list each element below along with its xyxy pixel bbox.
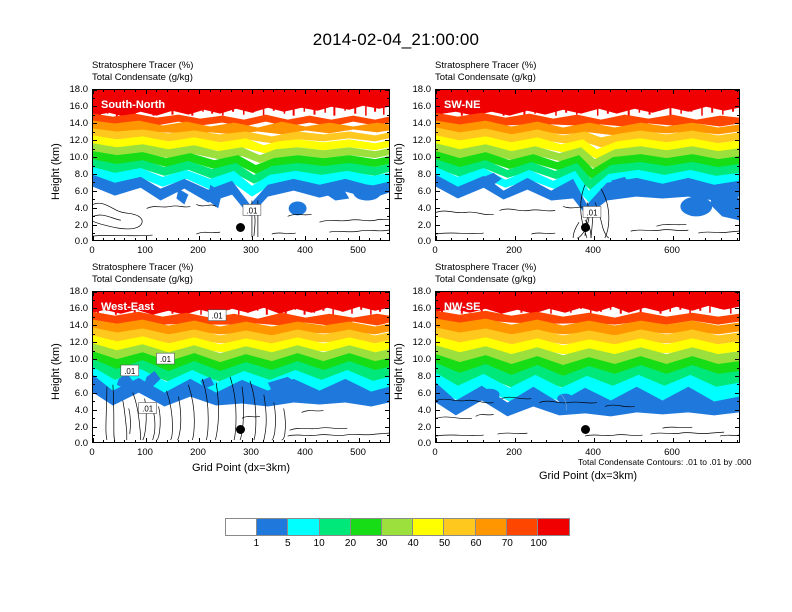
axis-minor-tick-mark — [387, 132, 389, 133]
axis-tick-mark — [93, 236, 94, 240]
axis-tick-mark — [93, 208, 97, 209]
axis-tick-mark — [436, 90, 440, 91]
axis-minor-tick-mark — [737, 233, 739, 234]
axis-minor-tick-mark — [103, 292, 104, 294]
axis-minor-tick-mark — [93, 334, 95, 335]
axis-tick-mark — [436, 308, 440, 309]
colorbar-strip[interactable] — [225, 518, 570, 536]
axis-minor-tick-mark — [387, 233, 389, 234]
axis-minor-tick-mark — [93, 384, 95, 385]
axis-minor-tick-mark — [483, 90, 484, 92]
axis-minor-tick-mark — [641, 292, 642, 294]
axis-minor-tick-mark — [387, 317, 389, 318]
axis-tick-mark — [252, 438, 253, 442]
axis-tick-mark — [385, 342, 389, 343]
location-marker-dot — [236, 425, 245, 434]
axis-minor-tick-mark — [93, 317, 95, 318]
axis-minor-tick-mark — [135, 440, 136, 442]
axis-minor-tick-mark — [436, 418, 438, 419]
ytick-14: 14.0 — [399, 320, 431, 331]
axis-minor-tick-mark — [689, 238, 690, 240]
axis-minor-tick-mark — [436, 199, 438, 200]
axis-minor-tick-mark — [103, 238, 104, 240]
axis-minor-tick-mark — [436, 384, 438, 385]
axis-tick-mark — [436, 410, 440, 411]
axis-minor-tick-mark — [387, 418, 389, 419]
axis-minor-tick-mark — [387, 98, 389, 99]
axis-minor-tick-mark — [483, 440, 484, 442]
axis-minor-tick-mark — [467, 292, 468, 294]
axis-minor-tick-mark — [327, 90, 328, 92]
ytick-6: 6.0 — [56, 186, 88, 197]
axis-minor-tick-mark — [531, 238, 532, 240]
xtick-200: 200 — [500, 447, 528, 458]
axis-tick-mark — [385, 393, 389, 394]
plot-area-sw-ne[interactable]: .01 — [435, 89, 740, 241]
axis-tick-mark — [93, 325, 97, 326]
axis-tick-mark — [735, 359, 739, 360]
axis-minor-tick-mark — [124, 292, 125, 294]
axis-tick-mark — [146, 90, 147, 94]
colorbar-tick-label: 5 — [285, 538, 291, 549]
axis-tick-mark — [436, 106, 440, 107]
axis-minor-tick-mark — [641, 238, 642, 240]
axis-minor-tick-mark — [380, 440, 381, 442]
panel-header-line1: Stratosphere Tracer (%) — [92, 60, 193, 72]
plot-area-nw-se[interactable] — [435, 291, 740, 443]
axis-tick-mark — [735, 174, 739, 175]
ytick-16: 16.0 — [399, 303, 431, 314]
colorbar-segment — [320, 519, 351, 535]
panel-header-line2: Total Condensate (g/kg) — [92, 274, 193, 286]
axis-minor-tick-mark — [737, 435, 739, 436]
axis-minor-tick-mark — [721, 238, 722, 240]
axis-tick-mark — [436, 359, 440, 360]
plot-content-west-east: .01 .01 .01 .01 — [93, 292, 389, 442]
colorbar-segment — [288, 519, 319, 535]
axis-minor-tick-mark — [337, 292, 338, 294]
axis-minor-tick-mark — [242, 292, 243, 294]
axis-minor-tick-mark — [436, 435, 438, 436]
ytick-18: 18.0 — [399, 84, 431, 95]
axis-minor-tick-mark — [436, 334, 438, 335]
page-title: 2014-02-04_21:00:00 — [0, 30, 792, 50]
axis-tick-mark — [359, 90, 360, 94]
axis-minor-tick-mark — [348, 440, 349, 442]
colorbar-tick-label: 30 — [376, 538, 387, 549]
axis-tick-mark — [735, 191, 739, 192]
axis-minor-tick-mark — [387, 435, 389, 436]
axis-tick-mark — [146, 236, 147, 240]
axis-tick-mark — [673, 236, 674, 240]
axis-minor-tick-mark — [188, 238, 189, 240]
axis-minor-tick-mark — [657, 440, 658, 442]
axis-minor-tick-mark — [210, 238, 211, 240]
axis-minor-tick-mark — [220, 90, 221, 92]
location-marker-dot — [236, 223, 245, 232]
ytick-10: 10.0 — [56, 152, 88, 163]
axis-minor-tick-mark — [578, 90, 579, 92]
axis-minor-tick-mark — [451, 292, 452, 294]
axis-minor-tick-mark — [436, 317, 438, 318]
axis-minor-tick-mark — [451, 440, 452, 442]
colorbar-segment — [226, 519, 257, 535]
axis-tick-mark — [385, 308, 389, 309]
axis-minor-tick-mark — [387, 384, 389, 385]
axis-minor-tick-mark — [562, 90, 563, 92]
axis-tick-mark — [359, 438, 360, 442]
axis-minor-tick-mark — [705, 440, 706, 442]
xtick-100: 100 — [131, 447, 159, 458]
axis-minor-tick-mark — [387, 216, 389, 217]
axis-minor-tick-mark — [380, 90, 381, 92]
axis-tick-mark — [199, 292, 200, 296]
axis-tick-mark — [93, 225, 97, 226]
axis-minor-tick-mark — [657, 292, 658, 294]
panel-header-line2: Total Condensate (g/kg) — [92, 72, 193, 84]
colorbar-tick-label: 60 — [470, 538, 481, 549]
axis-minor-tick-mark — [93, 351, 95, 352]
axis-minor-tick-mark — [178, 440, 179, 442]
axis-minor-tick-mark — [348, 90, 349, 92]
axis-tick-mark — [385, 157, 389, 158]
panel-header-line2: Total Condensate (g/kg) — [435, 274, 536, 286]
axis-tick-mark — [146, 438, 147, 442]
axis-minor-tick-mark — [531, 292, 532, 294]
axis-tick-mark — [93, 292, 94, 296]
axis-minor-tick-mark — [114, 238, 115, 240]
colorbar-segment — [476, 519, 507, 535]
axis-minor-tick-mark — [114, 292, 115, 294]
ytick-12: 12.0 — [56, 337, 88, 348]
plot-content-south-north: .01 — [93, 90, 389, 240]
axis-minor-tick-mark — [167, 440, 168, 442]
axis-tick-mark — [735, 393, 739, 394]
axis-tick-mark — [436, 292, 437, 296]
axis-minor-tick-mark — [273, 238, 274, 240]
axis-minor-tick-mark — [93, 300, 95, 301]
axis-minor-tick-mark — [737, 418, 739, 419]
xtick-200: 200 — [184, 245, 212, 256]
axis-minor-tick-mark — [231, 238, 232, 240]
axis-minor-tick-mark — [436, 300, 438, 301]
ytick-10: 10.0 — [56, 354, 88, 365]
figure-canvas: 2014-02-04_21:00:00 Stratosphere Tracer … — [0, 0, 792, 612]
axis-tick-mark — [436, 225, 440, 226]
axis-minor-tick-mark — [93, 368, 95, 369]
axis-tick-mark — [385, 106, 389, 107]
svg-text:.01: .01 — [586, 208, 598, 217]
axis-minor-tick-mark — [387, 368, 389, 369]
axis-minor-tick-mark — [657, 238, 658, 240]
axis-tick-mark — [252, 90, 253, 94]
axis-minor-tick-mark — [167, 90, 168, 92]
axis-minor-tick-mark — [337, 90, 338, 92]
axis-tick-mark — [436, 236, 437, 240]
axis-tick-mark — [735, 325, 739, 326]
ytick-14: 14.0 — [56, 320, 88, 331]
axis-minor-tick-mark — [737, 216, 739, 217]
axis-minor-tick-mark — [124, 238, 125, 240]
axis-minor-tick-mark — [737, 90, 738, 92]
axis-minor-tick-mark — [93, 149, 95, 150]
colorbar-segment — [351, 519, 382, 535]
axis-tick-mark — [594, 236, 595, 240]
ytick-2: 2.0 — [399, 422, 431, 433]
axis-tick-mark — [93, 438, 94, 442]
colorbar-tick-label: 10 — [314, 538, 325, 549]
axis-tick-mark — [385, 427, 389, 428]
axis-minor-tick-mark — [210, 292, 211, 294]
axis-minor-tick-mark — [263, 238, 264, 240]
axis-tick-mark — [385, 376, 389, 377]
ytick-8: 8.0 — [399, 169, 431, 180]
axis-tick-mark — [93, 157, 97, 158]
xtick-100: 100 — [131, 245, 159, 256]
axis-minor-tick-mark — [436, 166, 438, 167]
axis-minor-tick-mark — [737, 182, 739, 183]
axis-minor-tick-mark — [436, 401, 438, 402]
axis-minor-tick-mark — [348, 238, 349, 240]
axis-minor-tick-mark — [156, 292, 157, 294]
axis-minor-tick-mark — [178, 238, 179, 240]
axis-minor-tick-mark — [93, 216, 95, 217]
axis-tick-mark — [735, 157, 739, 158]
axis-minor-tick-mark — [337, 440, 338, 442]
axis-tick-mark — [93, 140, 97, 141]
axis-tick-mark — [436, 342, 440, 343]
axis-minor-tick-mark — [387, 199, 389, 200]
ytick-6: 6.0 — [399, 186, 431, 197]
ytick-12: 12.0 — [399, 135, 431, 146]
ytick-4: 4.0 — [56, 405, 88, 416]
axis-minor-tick-mark — [93, 166, 95, 167]
axis-minor-tick-mark — [135, 90, 136, 92]
axis-minor-tick-mark — [737, 199, 739, 200]
axis-minor-tick-mark — [210, 440, 211, 442]
axis-tick-mark — [436, 393, 440, 394]
colorbar[interactable]: 1510203040506070100 — [225, 518, 570, 558]
axis-tick-mark — [252, 236, 253, 240]
axis-tick-mark — [385, 359, 389, 360]
axis-minor-tick-mark — [220, 238, 221, 240]
axis-minor-tick-mark — [387, 300, 389, 301]
axis-minor-tick-mark — [242, 238, 243, 240]
axis-minor-tick-mark — [451, 238, 452, 240]
xtick-400: 400 — [291, 245, 319, 256]
ytick-2: 2.0 — [56, 422, 88, 433]
axis-tick-mark — [199, 438, 200, 442]
axis-minor-tick-mark — [467, 90, 468, 92]
axis-tick-mark — [436, 123, 440, 124]
colorbar-segment — [444, 519, 475, 535]
axis-tick-mark — [93, 427, 97, 428]
axis-minor-tick-mark — [114, 90, 115, 92]
colorbar-tick-label: 20 — [345, 538, 356, 549]
plot-area-south-north[interactable]: .01 — [92, 89, 390, 241]
axis-minor-tick-mark — [369, 90, 370, 92]
axis-minor-tick-mark — [93, 435, 95, 436]
axis-minor-tick-mark — [93, 182, 95, 183]
axis-minor-tick-mark — [689, 292, 690, 294]
axis-tick-mark — [735, 427, 739, 428]
axis-tick-mark — [305, 90, 306, 94]
ytick-12: 12.0 — [399, 337, 431, 348]
axis-tick-mark — [436, 174, 440, 175]
axis-tick-mark — [436, 90, 437, 94]
panel-header-line2: Total Condensate (g/kg) — [435, 72, 536, 84]
axis-minor-tick-mark — [135, 292, 136, 294]
xtick-0: 0 — [78, 245, 106, 256]
axis-minor-tick-mark — [436, 149, 438, 150]
xtick-200: 200 — [500, 245, 528, 256]
axis-minor-tick-mark — [546, 238, 547, 240]
axis-minor-tick-mark — [610, 238, 611, 240]
axis-tick-mark — [436, 208, 440, 209]
axis-tick-mark — [93, 106, 97, 107]
axis-minor-tick-mark — [273, 440, 274, 442]
axis-minor-tick-mark — [737, 166, 739, 167]
axis-minor-tick-mark — [231, 440, 232, 442]
axis-minor-tick-mark — [721, 440, 722, 442]
axis-tick-mark — [436, 191, 440, 192]
axis-minor-tick-mark — [641, 90, 642, 92]
axis-tick-mark — [305, 438, 306, 442]
colorbar-segment — [413, 519, 444, 535]
axis-minor-tick-mark — [93, 199, 95, 200]
axis-tick-mark — [673, 292, 674, 296]
axis-minor-tick-mark — [387, 115, 389, 116]
axis-minor-tick-mark — [220, 292, 221, 294]
axis-tick-mark — [359, 292, 360, 296]
axis-minor-tick-mark — [337, 238, 338, 240]
svg-text:.01: .01 — [212, 312, 224, 321]
axis-tick-mark — [385, 410, 389, 411]
axis-minor-tick-mark — [188, 292, 189, 294]
ytick-18: 18.0 — [56, 84, 88, 95]
axis-minor-tick-mark — [737, 98, 739, 99]
axis-tick-mark — [673, 90, 674, 94]
plot-content-sw-ne: .01 — [436, 90, 739, 240]
ytick-10: 10.0 — [399, 354, 431, 365]
axis-minor-tick-mark — [103, 90, 104, 92]
axis-tick-mark — [385, 174, 389, 175]
axis-tick-mark — [735, 123, 739, 124]
axis-minor-tick-mark — [737, 401, 739, 402]
xtick-0: 0 — [421, 245, 449, 256]
axis-tick-mark — [93, 359, 97, 360]
axis-tick-mark — [594, 438, 595, 442]
axis-minor-tick-mark — [231, 292, 232, 294]
axis-minor-tick-mark — [156, 238, 157, 240]
axis-minor-tick-mark — [657, 90, 658, 92]
axis-minor-tick-mark — [273, 292, 274, 294]
axis-minor-tick-mark — [610, 90, 611, 92]
axis-minor-tick-mark — [295, 238, 296, 240]
axis-minor-tick-mark — [93, 233, 95, 234]
axis-minor-tick-mark — [369, 440, 370, 442]
axis-minor-tick-mark — [483, 238, 484, 240]
x-axis-label-left: Grid Point (dx=3km) — [141, 462, 341, 474]
axis-minor-tick-mark — [737, 334, 739, 335]
xtick-400: 400 — [291, 447, 319, 458]
ytick-4: 4.0 — [56, 203, 88, 214]
colorbar-tick-label: 1 — [254, 538, 260, 549]
axis-tick-mark — [735, 225, 739, 226]
axis-tick-mark — [199, 90, 200, 94]
axis-tick-mark — [146, 292, 147, 296]
ytick-4: 4.0 — [399, 405, 431, 416]
axis-tick-mark — [305, 292, 306, 296]
axis-minor-tick-mark — [483, 292, 484, 294]
axis-minor-tick-mark — [284, 238, 285, 240]
axis-minor-tick-mark — [436, 132, 438, 133]
ytick-6: 6.0 — [56, 388, 88, 399]
panel-header-nw-se: Stratosphere Tracer (%) Total Condensate… — [435, 262, 536, 285]
xtick-0: 0 — [421, 447, 449, 458]
axis-minor-tick-mark — [380, 238, 381, 240]
colorbar-tick-label: 100 — [530, 538, 547, 549]
axis-minor-tick-mark — [436, 115, 438, 116]
axis-minor-tick-mark — [499, 238, 500, 240]
xtick-300: 300 — [237, 447, 265, 458]
axis-tick-mark — [735, 410, 739, 411]
axis-tick-mark — [735, 308, 739, 309]
axis-minor-tick-mark — [167, 292, 168, 294]
axis-minor-tick-mark — [436, 351, 438, 352]
axis-minor-tick-mark — [348, 292, 349, 294]
ytick-8: 8.0 — [399, 371, 431, 382]
axis-tick-mark — [673, 438, 674, 442]
axis-minor-tick-mark — [531, 440, 532, 442]
axis-minor-tick-mark — [380, 292, 381, 294]
location-marker-dot — [581, 223, 590, 232]
axis-tick-mark — [93, 123, 97, 124]
axis-minor-tick-mark — [295, 292, 296, 294]
svg-text:.01: .01 — [142, 404, 154, 413]
plot-area-west-east[interactable]: .01 .01 .01 .01 — [92, 291, 390, 443]
axis-minor-tick-mark — [316, 238, 317, 240]
xtick-0: 0 — [78, 447, 106, 458]
ytick-10: 10.0 — [399, 152, 431, 163]
axis-minor-tick-mark — [737, 132, 739, 133]
axis-tick-mark — [385, 123, 389, 124]
axis-minor-tick-mark — [467, 238, 468, 240]
axis-tick-mark — [515, 292, 516, 296]
axis-tick-mark — [93, 174, 97, 175]
ytick-16: 16.0 — [399, 101, 431, 112]
axis-minor-tick-mark — [626, 238, 627, 240]
axis-minor-tick-mark — [546, 440, 547, 442]
axis-minor-tick-mark — [93, 98, 95, 99]
axis-tick-mark — [93, 191, 97, 192]
axis-tick-mark — [385, 208, 389, 209]
axis-tick-mark — [199, 236, 200, 240]
panel-header-line1: Stratosphere Tracer (%) — [435, 262, 536, 274]
axis-tick-mark — [594, 90, 595, 94]
axis-minor-tick-mark — [93, 401, 95, 402]
axis-minor-tick-mark — [124, 90, 125, 92]
axis-minor-tick-mark — [499, 292, 500, 294]
axis-minor-tick-mark — [387, 149, 389, 150]
ytick-4: 4.0 — [399, 203, 431, 214]
axis-tick-mark — [385, 292, 389, 293]
axis-minor-tick-mark — [156, 90, 157, 92]
axis-minor-tick-mark — [387, 351, 389, 352]
ytick-12: 12.0 — [56, 135, 88, 146]
axis-tick-mark — [436, 438, 437, 442]
axis-minor-tick-mark — [231, 90, 232, 92]
